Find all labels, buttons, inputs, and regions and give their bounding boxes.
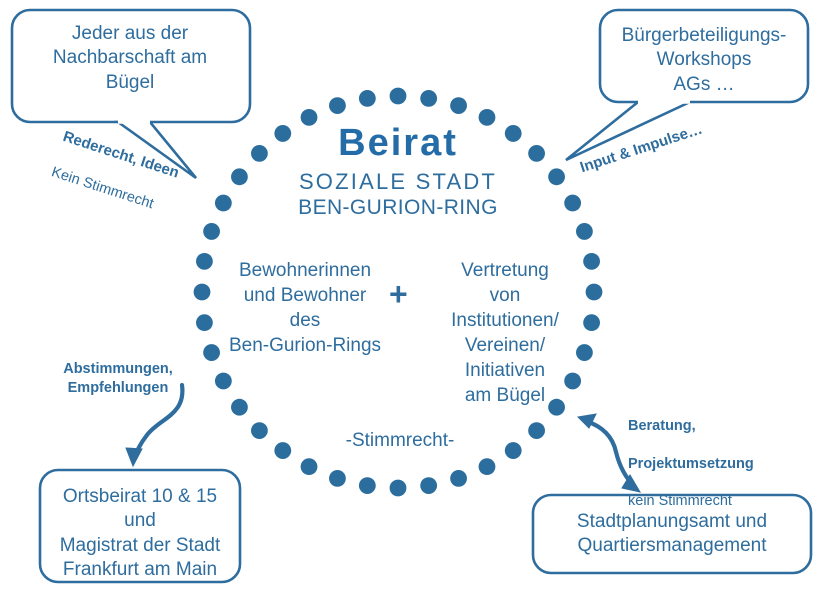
ring-dot xyxy=(450,470,467,487)
center-subtitle-2: BEN-GURION-RING xyxy=(248,196,548,220)
ring-dot xyxy=(359,477,376,494)
center-subtitle: SOZIALE STADT xyxy=(248,169,548,195)
ring-dot xyxy=(329,97,346,114)
ring-dot xyxy=(505,442,522,459)
ring-dot xyxy=(215,195,232,212)
ring-dot xyxy=(583,314,600,331)
ring-dot xyxy=(301,458,318,475)
ring-dot xyxy=(479,458,496,475)
bubble-top-left-label: Jeder aus der Nachbarschaft am Bügel xyxy=(22,22,238,95)
ring-dot xyxy=(215,373,232,390)
ring-dot xyxy=(194,284,211,301)
center-column-left: Bewohnerinnen und Bewohner des Ben-Gurio… xyxy=(215,258,395,358)
center-title-block: Beirat SOZIALE STADT BEN-GURION-RING xyxy=(248,124,548,220)
ring-dot xyxy=(203,223,220,240)
center-column-right: Vertretung von Institutionen/ Vereinen/ … xyxy=(425,258,585,408)
ring-dot xyxy=(231,168,248,185)
arrow-left-head xyxy=(126,448,142,466)
box-bottom-right-label: Stadtplanungsamt und Quartiersmanagement xyxy=(537,510,807,559)
ring-dot xyxy=(420,477,437,494)
arrow-label-right-line1: Beratung, xyxy=(628,417,788,436)
ring-dot xyxy=(528,422,545,439)
diagram-canvas: Jeder aus der Nachbarschaft am Bügel Bür… xyxy=(0,0,820,600)
ring-dot xyxy=(274,442,291,459)
ring-dot xyxy=(576,223,593,240)
ring-dot xyxy=(359,90,376,107)
center-footer-label: -Stimmrecht- xyxy=(300,430,500,452)
arrow-right-shaft xyxy=(586,421,634,486)
ring-dot xyxy=(390,88,407,105)
ring-dot xyxy=(564,195,581,212)
ring-dot xyxy=(548,168,565,185)
ring-dot xyxy=(251,422,268,439)
plus-icon: + xyxy=(389,278,408,310)
ring-dot xyxy=(196,253,213,270)
ring-dot xyxy=(583,253,600,270)
ring-dot xyxy=(586,284,603,301)
ring-dot xyxy=(196,314,213,331)
arrow-label-right-line3: kein Stimmrecht xyxy=(628,492,788,511)
ring-dot xyxy=(390,480,407,497)
ring-dot xyxy=(231,399,248,416)
arrow-label-left: Abstimmungen, Empfehlungen xyxy=(48,360,188,398)
ring-dot xyxy=(329,470,346,487)
ring-dot xyxy=(450,97,467,114)
box-bottom-left-label: Ortsbeirat 10 & 15 und Magistrat der Sta… xyxy=(44,485,236,582)
center-title: Beirat xyxy=(248,124,548,164)
arrow-label-right-line2: Projektumsetzung xyxy=(628,455,788,474)
ring-dot xyxy=(420,90,437,107)
bubble-top-right-label: Bürgerbeteiligungs- Workshops AGs … xyxy=(606,24,802,97)
